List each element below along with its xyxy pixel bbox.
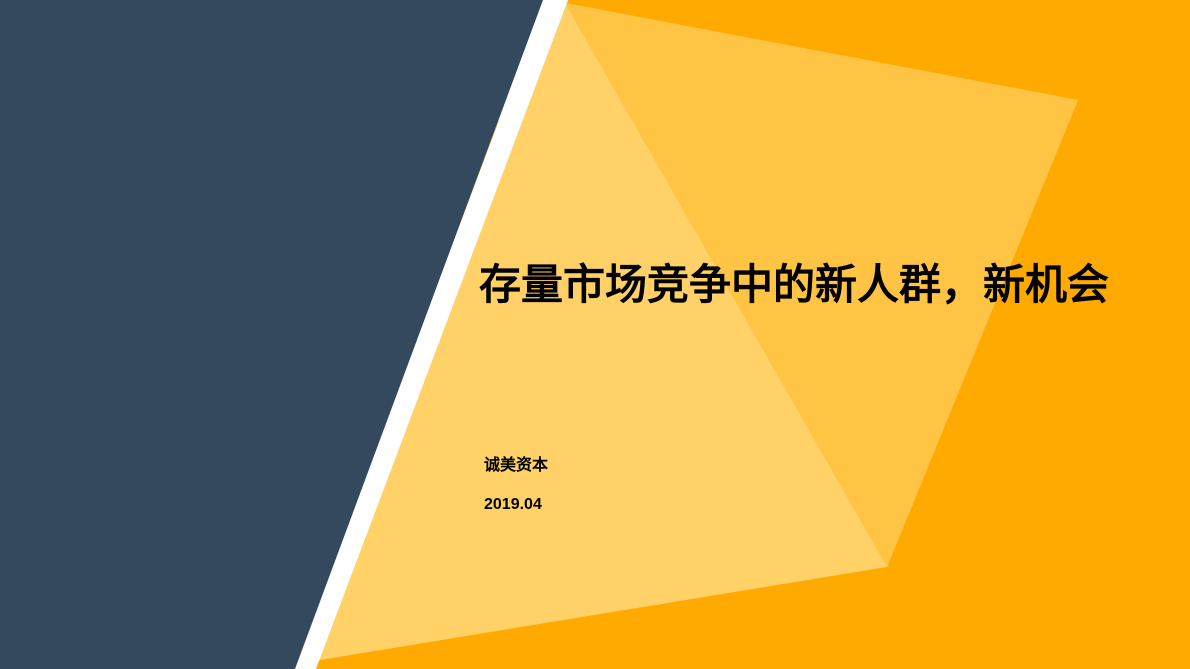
slide-text-layer: 存量市场竞争中的新人群，新机会 诚美资本 2019.04 bbox=[0, 0, 1190, 669]
slide-date: 2019.04 bbox=[484, 494, 542, 516]
presentation-slide: 存量市场竞争中的新人群，新机会 诚美资本 2019.04 bbox=[0, 0, 1190, 669]
organization-name: 诚美资本 bbox=[484, 455, 548, 477]
slide-title: 存量市场竞争中的新人群，新机会 bbox=[479, 259, 1109, 311]
